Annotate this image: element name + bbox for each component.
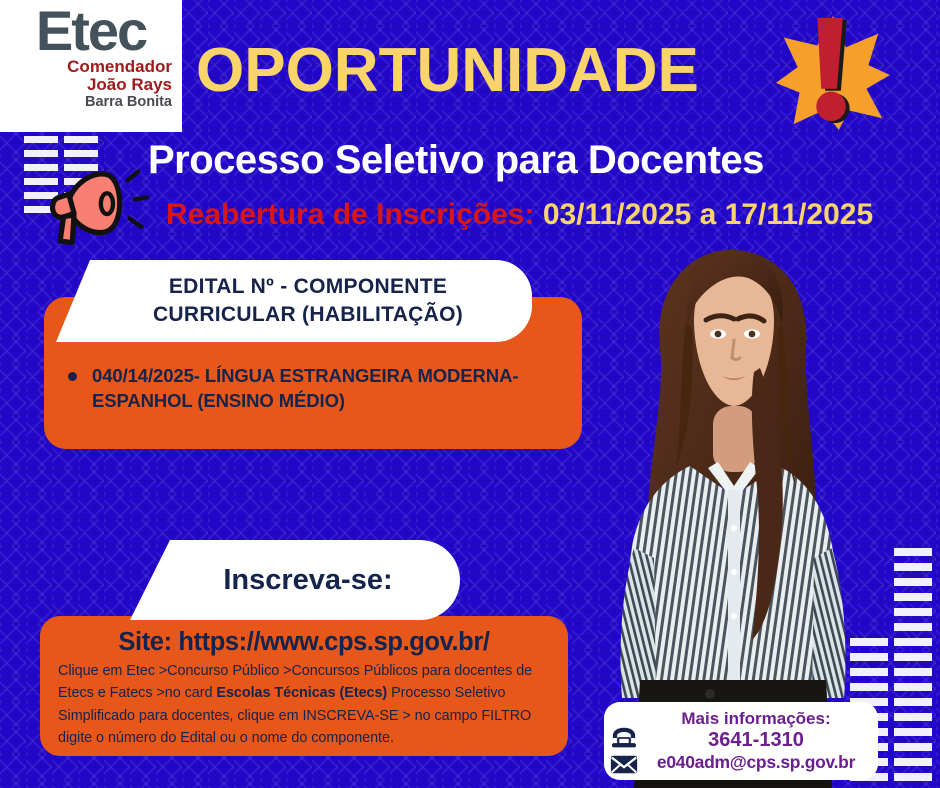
list-item: 040/14/2025- LÍNGUA ESTRANGEIRA MODERNA-…: [64, 364, 564, 414]
page-title: OPORTUNIDADE: [196, 35, 699, 106]
dates-label: Reabertura de Inscrições:: [166, 198, 534, 231]
dates-range: 03/11/2025 a 17/11/2025: [543, 198, 873, 231]
exclamation-burst-icon: [774, 14, 892, 132]
signup-instructions: Clique em Etec >Concurso Público >Concur…: [58, 660, 550, 749]
contact-phone[interactable]: 3641-1310: [642, 729, 870, 753]
edital-banner-line1: EDITAL Nº - COMPONENTE: [169, 273, 447, 301]
envelope-icon: [610, 754, 638, 775]
logo-line-comendador: Comendador: [0, 58, 182, 76]
megaphone-icon: [48, 168, 152, 248]
edital-item-list: 040/14/2025- LÍNGUA ESTRANGEIRA MODERNA-…: [64, 364, 564, 414]
signup-card: Site: https://www.cps.sp.gov.br/ Clique …: [40, 616, 568, 756]
instructions-highlight: Escolas Técnicas (Etecs): [216, 685, 387, 701]
logo-line-barra-bonita: Barra Bonita: [0, 94, 182, 110]
edital-banner: EDITAL Nº - COMPONENTE CURRICULAR (HABIL…: [56, 260, 532, 342]
contact-title: Mais informações:: [642, 709, 870, 729]
telephone-icon: [610, 726, 638, 750]
site-url-label[interactable]: Site: https://www.cps.sp.gov.br/: [58, 628, 550, 657]
logo-brand: Etec: [36, 4, 146, 58]
contact-card: Mais informações: 3641-1310 e040adm@cps.…: [604, 702, 878, 780]
etec-logo: Etec Comendador João Rays Barra Bonita: [0, 0, 182, 132]
poster-root: Etec Comendador João Rays Barra Bonita O…: [0, 0, 940, 788]
signup-banner-label: Inscreva-se:: [223, 564, 392, 597]
registration-dates: Reabertura de Inscrições: 03/11/2025 a 1…: [166, 198, 873, 232]
contact-email[interactable]: e040adm@cps.sp.gov.br: [642, 752, 870, 773]
logo-line-joao-rays: João Rays: [0, 76, 182, 94]
contact-icons: [610, 726, 638, 775]
edital-banner-line2: CURRICULAR (HABILITAÇÃO): [153, 301, 463, 329]
signup-banner: Inscreva-se:: [130, 540, 460, 620]
subtitle: Processo Seletivo para Docentes: [148, 138, 764, 183]
